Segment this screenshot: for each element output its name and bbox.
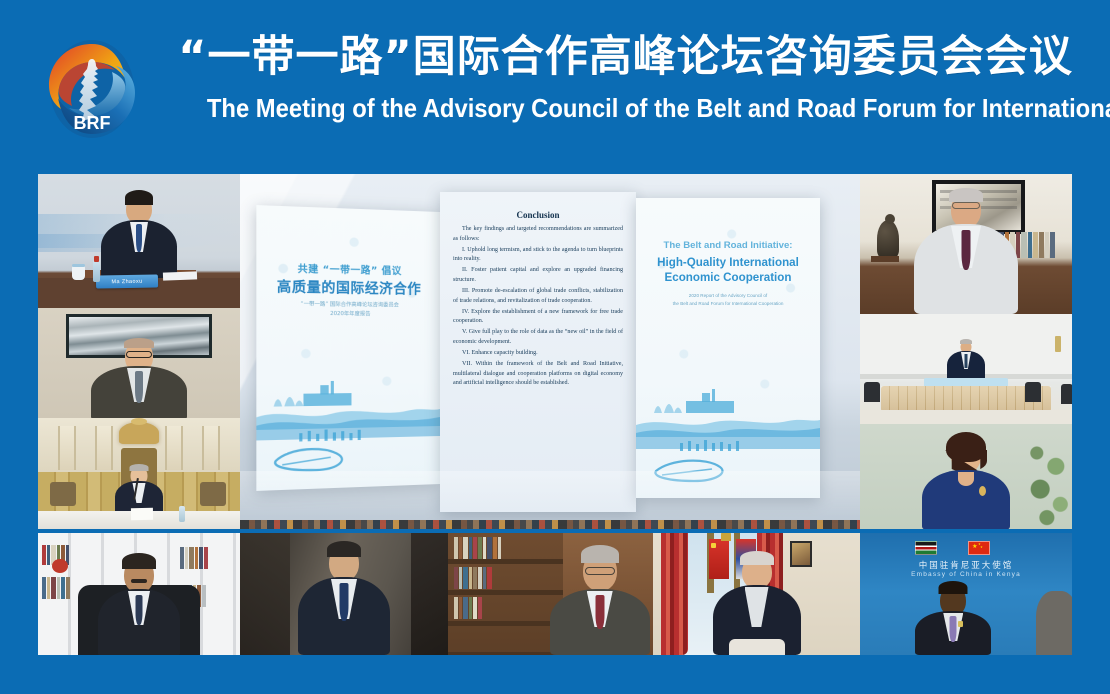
conclusion-para-4: IV. Explore the establishment of a new f… — [453, 308, 623, 327]
report-cn-line2: 高质量的国际经济合作 — [256, 274, 440, 298]
video-tile-participant-right-1[interactable] — [860, 174, 1072, 314]
conclusion-para-6: VI. Enhance capacity building. — [453, 349, 623, 359]
report-cover-english: The Belt and Road Initiative: High-Quali… — [636, 198, 820, 498]
brf-logo-icon: BRF — [36, 33, 148, 145]
event-header-banner: BRF “一带一路”国际合作高峰论坛咨询委员会会议 The Meeting of… — [0, 0, 1110, 170]
video-tile-participant-bottom-2[interactable] — [240, 533, 448, 655]
nameplate-ma-zhaoxu: Ma Zhaoxu — [96, 274, 158, 288]
conclusion-para-7: VII. Within the framework of the Belt an… — [453, 360, 623, 389]
report-en-line2: High-Quality International — [636, 256, 820, 269]
event-title-chinese: “一带一路”国际合作高峰论坛咨询委员会会议 — [168, 30, 1083, 84]
conclusion-body: The key findings and targeted recommenda… — [453, 225, 623, 391]
conclusion-para-0: The key findings and targeted recommenda… — [453, 225, 623, 244]
video-tile-participant-right-3[interactable] — [860, 424, 1072, 529]
conclusion-para-5: V. Give full play to the role of data as… — [453, 328, 623, 347]
embassy-backdrop-english: Embassy of China in Kenya — [860, 571, 1072, 578]
embassy-backdrop-chinese: 中国驻肯尼亚大使馆 — [860, 559, 1072, 571]
report-cn-sub1: “一带一路” 国际合作高峰论坛咨询委员会 — [256, 300, 440, 309]
video-tile-participant-bottom-1[interactable] — [38, 533, 240, 655]
flag-kenya-icon — [915, 541, 937, 555]
video-tile-participant-bottom-5[interactable]: ★ ★ ★ 中国驻肯尼亚大使馆 Embassy of China in Keny… — [860, 533, 1072, 655]
video-tile-participant-left-1[interactable]: Ma Zhaoxu — [38, 174, 240, 308]
header-titles: “一带一路”国际合作高峰论坛咨询委员会会议 The Meeting of the… — [168, 30, 1083, 125]
conclusion-heading: Conclusion — [440, 210, 636, 220]
cover-wave-graphic — [256, 356, 440, 483]
broadcast-frame: BRF “一带一路”国际合作高峰论坛咨询委员会会议 The Meeting of… — [0, 0, 1110, 694]
report-cover-chinese: 共建 “一带一路” 倡议 高质量的国际经济合作 “一带一路” 国际合作高峰论坛咨… — [256, 205, 440, 491]
video-tile-participant-right-2[interactable] — [860, 314, 1072, 424]
report-en-line1: The Belt and Road Initiative: — [636, 240, 820, 251]
report-en-sub1: 2020 Report of the Advisory Council of — [636, 293, 820, 298]
video-tile-participant-bottom-3[interactable] — [448, 533, 653, 655]
video-tile-participant-left-3[interactable] — [38, 418, 240, 529]
event-title-english: The Meeting of the Advisory Council of t… — [207, 91, 1044, 125]
flag-china-icon: ★ ★ ★ — [968, 541, 990, 555]
report-en-sub2: the Belt and Road Forum for Internationa… — [636, 301, 820, 306]
brf-logo-text: BRF — [74, 113, 111, 133]
conclusion-para-1: I. Uphold long termism, and stick to the… — [453, 246, 623, 265]
video-conference-grid: Ma Zhaoxu — [38, 174, 1072, 655]
nameplate-label: Ma Zhaoxu — [111, 278, 142, 285]
conclusion-para-3: III. Promote de-escalation of global tra… — [453, 287, 623, 306]
report-inner-page-conclusion: Conclusion The key findings and targeted… — [440, 192, 636, 512]
report-en-line3: Economic Cooperation — [636, 271, 820, 284]
conclusion-para-2: II. Foster patient capital and explore a… — [453, 266, 623, 285]
video-tile-participant-left-2[interactable] — [38, 308, 240, 418]
video-tile-presentation-share[interactable]: 共建 “一带一路” 倡议 高质量的国际经济合作 “一带一路” 国际合作高峰论坛咨… — [240, 174, 860, 529]
report-cn-sub2: 2020年年度报告 — [256, 309, 440, 318]
video-tile-participant-bottom-4[interactable] — [653, 533, 860, 655]
